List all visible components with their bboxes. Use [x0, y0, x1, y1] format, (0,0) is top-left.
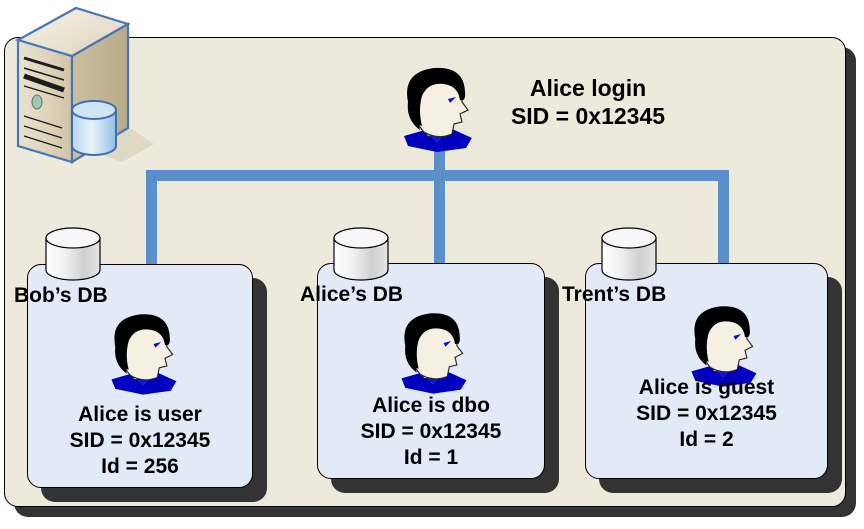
alices-db-user-sid: SID = 0x12345	[317, 419, 545, 445]
diagram-canvas: Alice login SID = 0x12345 Bob’s DB	[0, 0, 864, 529]
person-head-icon	[392, 62, 482, 157]
database-cylinder-icon	[598, 226, 660, 284]
server-tower-icon	[4, 4, 156, 164]
trents-db-user-sid: SID = 0x12345	[585, 401, 828, 427]
alices-db-user-role: Alice is dbo	[317, 393, 545, 419]
alices-db-label: Alice’s DB	[300, 283, 403, 307]
login-node: Alice login SID = 0x12345	[392, 62, 682, 162]
connector-to-alices-db	[434, 170, 445, 270]
bobs-db-label: Bob’s DB	[14, 284, 108, 308]
database-cylinder-icon	[42, 226, 104, 284]
trents-db-user-info: Alice is guest SID = 0x12345 Id = 2	[585, 375, 828, 453]
person-head-icon	[100, 308, 186, 400]
login-label: Alice login SID = 0x12345	[488, 74, 688, 130]
bobs-db-user-sid: SID = 0x12345	[27, 428, 253, 454]
trents-db-user-id: Id = 2	[585, 427, 828, 453]
login-name: Alice login	[488, 74, 688, 102]
alices-db-user-info: Alice is dbo SID = 0x12345 Id = 1	[317, 393, 545, 471]
trents-db-label: Trent’s DB	[562, 283, 666, 307]
login-sid: SID = 0x12345	[488, 102, 688, 130]
person-head-icon	[390, 307, 476, 399]
database-cylinder-icon	[330, 226, 392, 284]
alices-db-user-id: Id = 1	[317, 445, 545, 471]
bobs-db-user-id: Id = 256	[27, 454, 253, 480]
bobs-db-user-role: Alice is user	[27, 402, 253, 428]
connector-to-trents-db	[718, 170, 729, 270]
trents-db-user-role: Alice is guest	[585, 375, 828, 401]
bobs-db-user-info: Alice is user SID = 0x12345 Id = 256	[27, 402, 253, 480]
